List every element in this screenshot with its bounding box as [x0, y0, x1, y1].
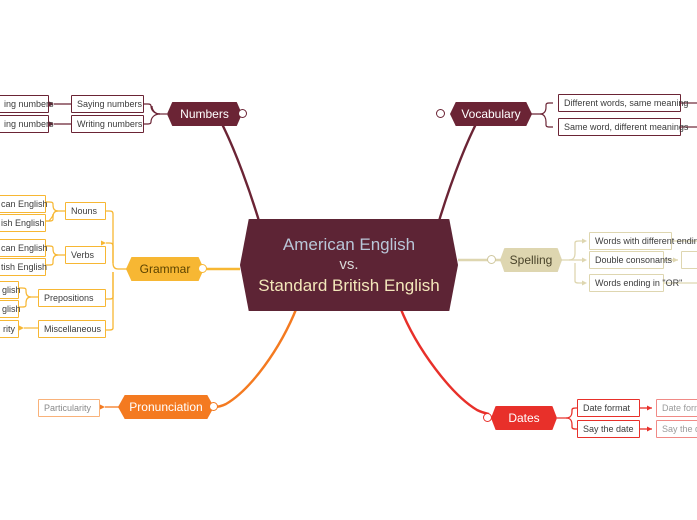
node-nouns-american-english[interactable]: can English	[0, 195, 46, 213]
node-label: ing numbers	[4, 119, 54, 129]
node-label: Say the d	[662, 424, 697, 434]
node-saying-numbers-child[interactable]: ing numbers	[0, 95, 49, 113]
branch-label-spelling: Spelling	[510, 253, 553, 267]
branch-node-grammar[interactable]: Grammar	[126, 257, 204, 281]
node-label: rity	[3, 324, 15, 334]
node-date-format[interactable]: Date format	[577, 399, 640, 417]
node-say-the-date-child[interactable]: Say the d	[656, 420, 697, 438]
branch-node-dates[interactable]: Dates	[491, 406, 557, 430]
node-label: tish English	[1, 262, 47, 272]
node-label: glish	[2, 285, 21, 295]
node-date-format-child[interactable]: Date form	[656, 399, 697, 417]
node-label: can English	[1, 243, 48, 253]
node-words-with-different-endings[interactable]: Words with different endings	[589, 232, 672, 250]
node-label: ish English	[1, 218, 45, 228]
node-words-ending-in-or[interactable]: Words ending in "OR"	[589, 274, 664, 292]
branch-label-numbers: Numbers	[180, 107, 229, 121]
branch-node-numbers[interactable]: Numbers	[167, 102, 242, 126]
collapse-toggle-pronunciation[interactable]	[209, 402, 218, 411]
node-double-consonants[interactable]: Double consonants	[589, 251, 664, 269]
central-line-3: Standard British English	[258, 275, 439, 297]
node-label: Nouns	[71, 206, 97, 216]
node-label: Say the date	[583, 424, 634, 434]
node-verbs[interactable]: Verbs	[65, 246, 106, 264]
node-label: Words with different endings	[595, 236, 697, 246]
node-verbs-american-english[interactable]: can English	[0, 239, 46, 257]
node-prepositions-british-english[interactable]: glish	[0, 300, 19, 318]
node-saying-numbers[interactable]: Saying numbers	[71, 95, 144, 113]
node-label: Miscellaneous	[44, 324, 101, 334]
node-label: ing numbers	[4, 99, 54, 109]
central-node[interactable]: American English vs. Standard British En…	[240, 219, 458, 311]
node-label: Particularity	[44, 403, 91, 413]
node-label: Double consonants	[595, 255, 672, 265]
node-same-word-different-meanings[interactable]: Same word, different meanings	[558, 118, 681, 136]
branch-node-vocabulary[interactable]: Vocabulary	[450, 102, 532, 126]
node-writing-numbers[interactable]: Writing numbers	[71, 115, 144, 133]
node-double-consonants-child[interactable]	[681, 251, 697, 269]
mindmap-canvas[interactable]: American English vs. Standard British En…	[0, 0, 697, 520]
collapse-toggle-dates[interactable]	[483, 413, 492, 422]
node-label: Prepositions	[44, 293, 94, 303]
collapse-toggle-vocabulary[interactable]	[436, 109, 445, 118]
node-label: glish	[2, 304, 21, 314]
branch-node-pronunciation[interactable]: Pronunciation	[118, 395, 214, 419]
node-label: Different words, same meaning	[564, 98, 688, 108]
node-label: Writing numbers	[77, 119, 142, 129]
node-say-the-date[interactable]: Say the date	[577, 420, 640, 438]
branch-label-vocabulary: Vocabulary	[461, 107, 520, 121]
branch-node-spelling[interactable]: Spelling	[500, 248, 562, 272]
node-nouns-british-english[interactable]: ish English	[0, 214, 46, 232]
collapse-toggle-spelling[interactable]	[487, 255, 496, 264]
node-different-words-same-meaning[interactable]: Different words, same meaning	[558, 94, 681, 112]
node-pronunciation-particularity[interactable]: Particularity	[38, 399, 100, 417]
branch-label-dates: Dates	[508, 411, 539, 425]
central-line-1: American English	[258, 234, 439, 256]
node-miscellaneous[interactable]: Miscellaneous	[38, 320, 106, 338]
node-label: Saying numbers	[77, 99, 142, 109]
collapse-toggle-grammar[interactable]	[198, 264, 207, 273]
collapse-toggle-numbers[interactable]	[238, 109, 247, 118]
node-label: Same word, different meanings	[564, 122, 688, 132]
node-label: Date format	[583, 403, 630, 413]
node-miscellaneous-particularity[interactable]: rity	[0, 320, 19, 338]
node-prepositions[interactable]: Prepositions	[38, 289, 106, 307]
node-writing-numbers-child[interactable]: ing numbers	[0, 115, 49, 133]
node-label: Verbs	[71, 250, 94, 260]
node-label: Date form	[662, 403, 697, 413]
node-nouns[interactable]: Nouns	[65, 202, 106, 220]
branch-label-grammar: Grammar	[140, 262, 191, 276]
node-prepositions-american-english[interactable]: glish	[0, 281, 19, 299]
central-line-2: vs.	[258, 255, 439, 274]
branch-label-pronunciation: Pronunciation	[129, 400, 202, 414]
node-label: can English	[1, 199, 48, 209]
node-label: Words ending in "OR"	[595, 278, 682, 288]
node-verbs-british-english[interactable]: tish English	[0, 258, 46, 276]
